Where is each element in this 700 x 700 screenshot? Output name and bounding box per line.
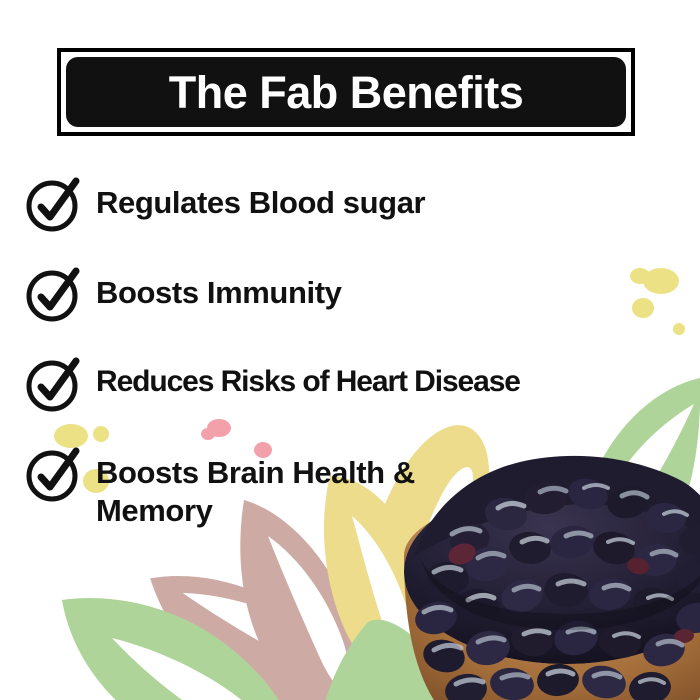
benefit-item: Reduces Risks of Heart Disease [24, 352, 520, 414]
benefit-label: Reduces Risks of Heart Disease [96, 352, 520, 401]
benefit-item: Boosts Immunity [24, 262, 341, 324]
benefit-label: Boosts Brain Health & Memory [96, 442, 426, 530]
check-circle-icon [24, 262, 86, 324]
title-banner-inner: The Fab Benefits [66, 57, 626, 127]
check-circle-icon [24, 352, 86, 414]
title-banner: The Fab Benefits [57, 48, 635, 136]
benefits-poster: The Fab Benefits Regulates Blood sugar B… [0, 0, 700, 700]
page-title: The Fab Benefits [169, 70, 524, 115]
poster-content: The Fab Benefits Regulates Blood sugar B… [0, 0, 700, 700]
check-circle-icon [24, 172, 86, 234]
benefit-item: Boosts Brain Health & Memory [24, 442, 426, 530]
benefit-label: Regulates Blood sugar [96, 172, 425, 222]
benefit-label: Boosts Immunity [96, 262, 341, 312]
check-circle-icon [24, 442, 86, 504]
benefit-item: Regulates Blood sugar [24, 172, 425, 234]
